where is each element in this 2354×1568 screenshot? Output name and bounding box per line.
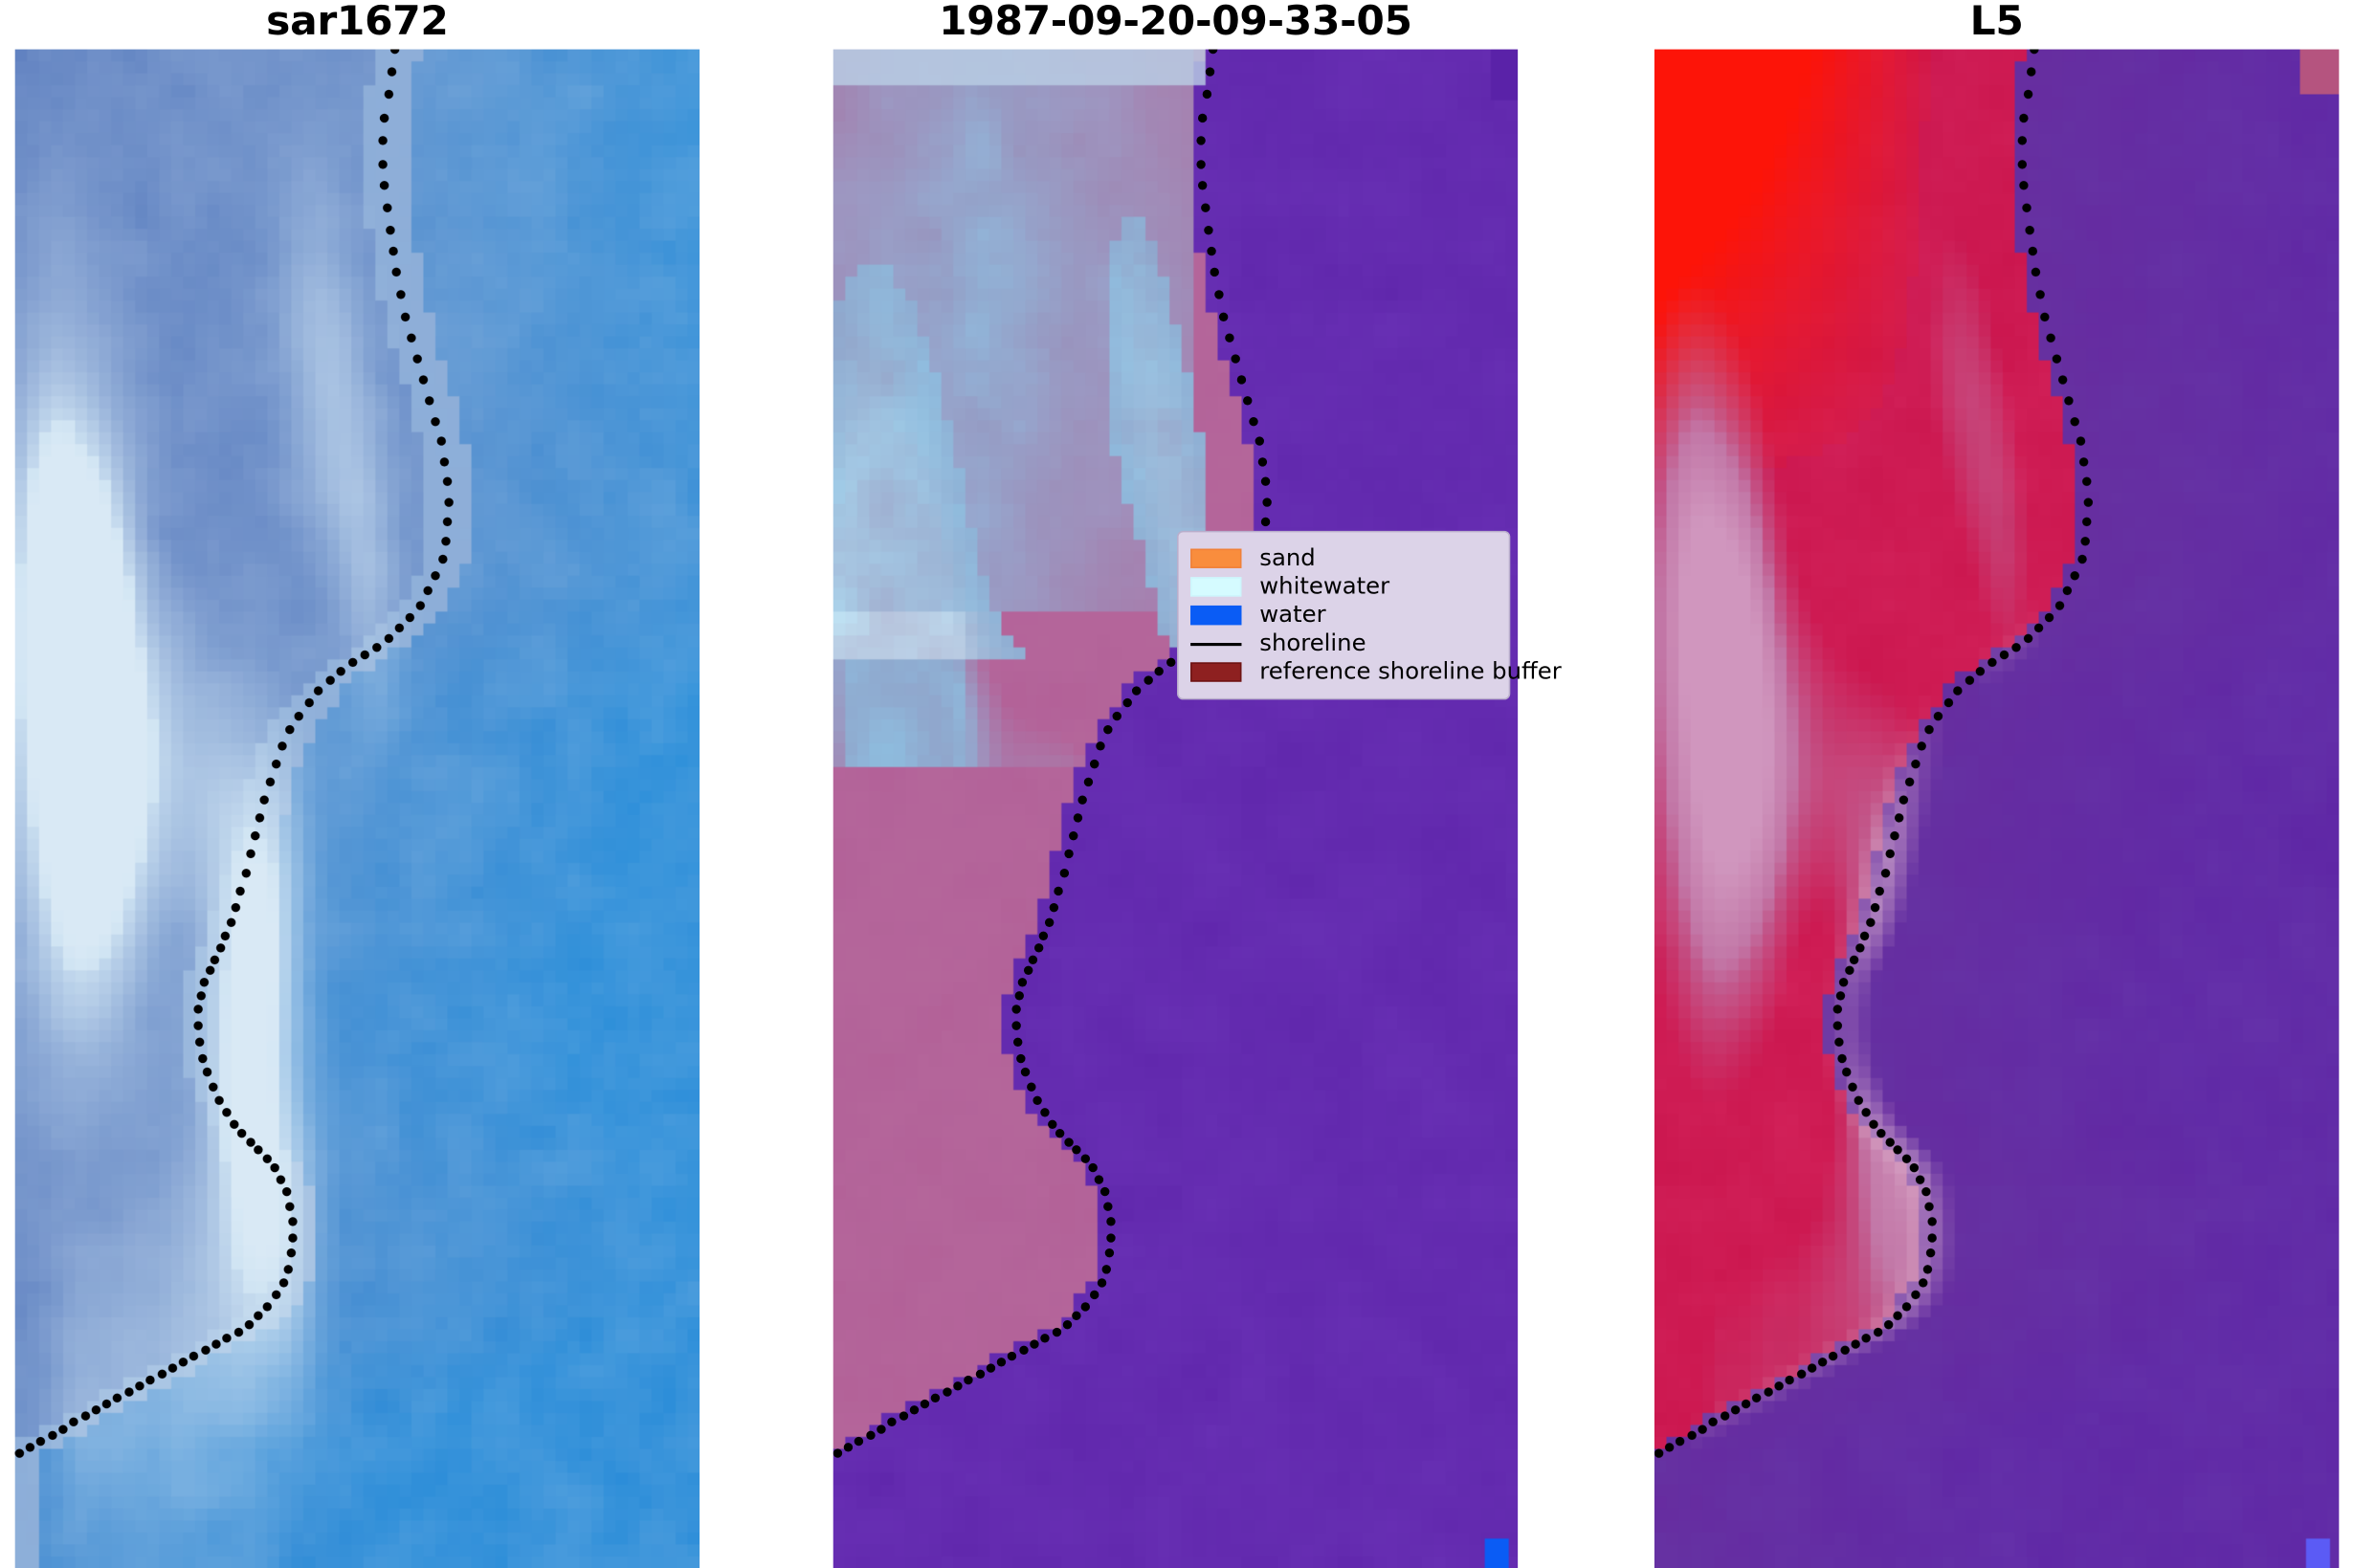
shoreline-dot [1927,1217,1936,1226]
shoreline-dot [406,334,414,342]
shoreline-dot [1742,1400,1750,1408]
shoreline-dot [1052,1327,1060,1336]
shoreline-dot [392,268,401,276]
shoreline-dot [444,518,453,526]
shoreline-dot [189,1351,198,1359]
shoreline-dot [288,1233,297,1242]
shoreline-dot [1830,1351,1838,1359]
shoreline-dot [222,1108,231,1116]
shoreline-dot [1155,667,1164,675]
shoreline-dot [2030,50,2038,55]
shoreline-dot [380,113,389,121]
shoreline-dot [1039,932,1048,940]
shoreline-dot [441,537,450,545]
legend-label-sand: sand [1259,544,1315,573]
shoreline-dot [315,686,323,695]
shoreline-dot [1106,1217,1115,1226]
shoreline-dot [1019,1345,1028,1354]
shoreline-dot [1056,1130,1065,1138]
shoreline-dot [1885,1137,1894,1146]
shoreline-dot [287,1249,296,1258]
shoreline-dot [168,1363,177,1372]
shoreline-dot [1909,1164,1918,1173]
shoreline-dot [214,1096,223,1105]
shoreline-dot [26,1443,34,1451]
shoreline-dot [124,1388,133,1397]
shoreline-dot [246,850,255,858]
legend-item-whitewater: whitewater [1190,573,1494,602]
shoreline-dot [833,1448,842,1457]
shoreline-dot [205,965,213,974]
shoreline-dot [255,1146,263,1155]
shoreline-dot [200,978,209,986]
shoreline-dot [1029,956,1037,964]
shoreline-dot [197,991,206,1000]
shoreline-dot [1918,741,1926,750]
shoreline-dot [1836,991,1845,1000]
shoreline-dot [1665,1443,1674,1451]
shoreline-dot [1255,437,1263,446]
shoreline-dot [445,497,454,506]
shoreline-dot [1922,1264,1931,1272]
shoreline-dot [2077,555,2086,563]
shoreline-dot [1090,759,1099,767]
shoreline-dot [1844,965,1853,974]
legend-item-reference-shoreline-buffer: reference shoreline buffer [1190,658,1494,687]
shoreline-dot [2023,90,2032,99]
reference-shoreline-buffer-swatch [1190,662,1241,681]
shoreline-dot [1850,956,1858,964]
shoreline-dot [1899,795,1908,804]
shoreline-dot [1752,1394,1761,1402]
shoreline-dot [272,1291,280,1299]
shoreline-dot [278,1278,287,1287]
shoreline-dot [15,1448,24,1457]
shoreline-dot [295,711,303,719]
shoreline-dot [272,759,280,767]
shoreline-dot [1854,1096,1862,1105]
shoreline-dot [1904,777,1913,785]
shoreline-dot [201,1345,210,1354]
shoreline-dot [424,586,433,595]
shoreline-dot [1064,1137,1073,1146]
shoreline-dot [1883,1320,1892,1329]
shoreline-dot [1965,675,1973,684]
shoreline-dot [1048,1119,1056,1128]
shoreline-dot [1104,725,1113,734]
shoreline-dot [1848,1082,1856,1091]
shoreline-dot [1764,1388,1772,1397]
shoreline-dot [1027,1082,1035,1091]
shoreline-dot [415,601,424,609]
shoreline-dot [877,1424,885,1433]
shoreline-dot [909,1406,918,1415]
shoreline-dot [1928,1233,1937,1242]
shoreline-dot [384,90,392,99]
shoreline-dot [1095,1175,1103,1183]
shoreline-dot [1894,1312,1902,1320]
shoreline-dot [2082,477,2091,486]
shoreline-dot [2020,182,2029,190]
whitewater-swatch [1190,577,1241,596]
shoreline-dot [255,813,263,822]
shoreline-dot [1198,182,1207,190]
shoreline-dot [2083,518,2092,526]
shoreline-dot [179,1358,188,1366]
shoreline-dot [278,741,287,750]
shoreline-dot [250,831,258,840]
panel-classified[interactable] [833,50,1518,1568]
shoreline-dot [2046,334,2054,342]
shoreline-dot [1207,247,1215,255]
shoreline-dot [1921,1187,1929,1196]
shoreline-dot [1077,795,1086,804]
shoreline-dot [2052,355,2060,364]
shoreline-dot [1040,1108,1049,1116]
shoreline-dot [390,50,399,55]
panel-title-sar: sar1672 [15,0,700,50]
shoreline-dot [1088,1164,1097,1173]
shoreline-dot [987,1363,995,1372]
shoreline-dot [211,956,219,964]
shoreline-dot [1943,698,1952,707]
shoreline-dot [2018,137,2027,145]
shoreline-dot [1083,777,1092,785]
shoreline-dot [1862,1333,1871,1341]
shoreline-dot [1676,1436,1684,1445]
shoreline-dot [255,1312,263,1320]
shoreline-dot [899,1412,907,1421]
shoreline-dot [1924,1202,1933,1210]
sand-swatch [1190,549,1241,568]
shoreline-dot [418,376,427,385]
shoreline-dot [1926,1249,1935,1258]
panel-sar[interactable] [15,50,700,1568]
shoreline-dot [386,226,394,234]
shoreline-dot [1698,1424,1706,1433]
shoreline-dot [232,902,240,911]
shoreline-dot [1808,1363,1816,1372]
shoreline-dot [1015,991,1024,1000]
shoreline-dot [2064,396,2073,405]
shoreline-dot [230,1119,238,1128]
shoreline-dot [844,1443,853,1451]
shoreline-dot [277,1175,285,1183]
shoreline-dot [285,1202,294,1210]
shoreline-dot [1833,1005,1842,1013]
shoreline-dot [396,290,405,298]
shoreline-dot [48,1430,56,1439]
panel-l5[interactable] [1654,50,2339,1568]
shoreline-dot [1774,1381,1783,1390]
shoreline-dot [208,1082,216,1091]
shoreline-dot [1055,887,1063,895]
shoreline-dot [246,1137,255,1146]
shoreline-dot [270,1164,278,1173]
shoreline-dot [157,1369,166,1378]
shoreline-dot [1073,1312,1081,1320]
shoreline-dot [1045,917,1054,926]
shoreline-dot [1064,850,1073,858]
shoreline-dot [395,624,404,632]
figure-canvas: sar1672 1987-09-20-09-33-05 L5 sand whit… [0,0,2354,1023]
shoreline-dot [259,795,268,804]
shoreline-dot [2032,268,2040,276]
shoreline-dot [1880,869,1889,877]
shoreline-dot [1988,658,1997,667]
shoreline-dot [1840,1345,1849,1354]
shoreline-dot [1901,1154,1910,1162]
shoreline-dot [1911,1291,1920,1299]
shoreline-dot [1231,355,1239,364]
shoreline-dot [265,777,274,785]
shoreline-dot [348,658,357,667]
shoreline-dot [1166,658,1175,667]
shoreline-dot [443,477,452,486]
legend-label-water: water [1259,601,1325,629]
shoreline-dot [1122,698,1131,707]
shoreline-dot [1012,1005,1021,1013]
shoreline-dot [437,555,446,563]
shoreline-dot [1030,1339,1038,1348]
shoreline-dot [361,651,369,659]
legend-item-water: water [1190,601,1494,629]
shoreline-dot [378,159,387,167]
shoreline-dot [1196,137,1205,145]
shoreline-dot [1925,725,1934,734]
shoreline-dot [372,642,381,651]
shoreline-dot [2071,571,2079,580]
shoreline-dot [1869,1119,1877,1128]
shoreline-dot [1021,1068,1030,1076]
shoreline-dot [436,437,445,446]
legend-label-shoreline: shoreline [1259,629,1366,658]
shoreline-dot [1786,1376,1794,1384]
shoreline-dot [1861,1108,1870,1116]
shoreline-dot [406,613,414,622]
shoreline-dot [223,1333,232,1341]
shoreline-dot [997,1358,1006,1366]
shoreline-dot [221,932,230,940]
shoreline-dot [1062,1320,1071,1329]
shoreline-dot [244,1320,253,1329]
shoreline-dot [203,1068,211,1076]
shoreline-dot [1198,113,1207,121]
shoreline-dot [1877,1130,1886,1138]
shoreline-dot [237,1130,246,1138]
shoreline-dot [1196,159,1205,167]
shoreline-dot [1954,686,1963,695]
shoreline-dot [921,1400,929,1408]
shoreline-dot [1133,686,1142,695]
shoreline-dot [1876,887,1884,895]
shoreline-dot [1018,978,1027,986]
shoreline-dot [2034,624,2043,632]
shoreline-dot [1034,944,1043,953]
shoreline-dot [1872,902,1880,911]
shoreline-dot [2070,416,2078,425]
shoreline-dot [80,1412,89,1421]
shoreline-dot [1050,902,1058,911]
shoreline-dot [2084,497,2093,506]
shoreline-dot [2045,613,2054,622]
shoreline-dot [1090,1291,1099,1299]
shoreline-dot [1885,850,1894,858]
legend-item-shoreline: shoreline [1190,629,1494,658]
shoreline-dot [2080,537,2089,545]
shoreline-dot [1243,396,1252,405]
shoreline-dot [389,247,397,255]
shoreline-dot [1106,1233,1115,1242]
legend-label-reference-shoreline-buffer: reference shoreline buffer [1259,658,1561,687]
shoreline-dot [287,1217,296,1226]
shoreline-dot [1261,477,1270,486]
shoreline-dot [965,1376,973,1384]
shoreline-dot [1262,518,1271,526]
shoreline-dot [194,1005,203,1013]
shoreline-dot [1105,1249,1114,1258]
shoreline-dot [236,887,245,895]
shoreline-dot [102,1400,111,1408]
shoreline-dot [1068,831,1077,840]
shoreline-dot [953,1381,962,1390]
shoreline-dot [1103,1202,1112,1210]
shoreline-dot [337,667,345,675]
shoreline-dot [1008,1351,1016,1359]
shoreline-dot [1097,1278,1105,1287]
shoreline-line-swatch [1190,642,1241,645]
shoreline-dot [1818,1358,1827,1366]
shoreline-dot [1654,1448,1663,1457]
shoreline-dot [1236,376,1245,385]
shoreline-dot [380,182,389,190]
shoreline-dot [383,204,391,212]
shoreline-dot [211,1339,220,1348]
shoreline-dot [1201,204,1210,212]
shoreline-dot [1866,917,1875,926]
shoreline-dot [401,312,410,320]
shoreline-dot [198,1053,207,1062]
shoreline-dot [2024,634,2032,643]
shoreline-dot [1934,711,1943,719]
shoreline-dot [1080,1154,1089,1162]
shoreline-dot [1202,90,1210,99]
shoreline-dot [135,1381,144,1390]
shoreline-dot [1902,1302,1911,1311]
shoreline-dot [1916,1175,1924,1183]
shoreline-dot [2027,67,2035,76]
shoreline-dot [58,1424,67,1433]
shoreline-dot [1852,1339,1860,1348]
shoreline-dot [378,137,387,145]
shoreline-dot [1081,1302,1090,1311]
shoreline-dot [432,571,440,580]
shoreline-dot [385,634,393,643]
shoreline-overlay-sar [15,50,700,1568]
shoreline-dot [262,1154,271,1162]
shoreline-dot [1855,944,1864,953]
shoreline-dot [1059,869,1068,877]
shoreline-dot [241,869,250,877]
shoreline-dot [1214,290,1223,298]
shoreline-dot [1842,1068,1851,1076]
legend: sand whitewater water shoreline referenc… [1177,531,1510,700]
shoreline-dot [286,725,295,734]
shoreline-dot [1144,675,1152,684]
panel-title-l5: L5 [1654,0,2339,50]
shoreline-dot [2025,226,2033,234]
shoreline-dot [1837,1053,1846,1062]
shoreline-dot [2018,159,2027,167]
shoreline-dot [1113,711,1121,719]
shoreline-dot [1204,226,1212,234]
shoreline-dot [1101,1264,1110,1272]
shoreline-dot [388,67,396,76]
shoreline-overlay-l5 [1654,50,2339,1568]
shoreline-dot [1709,1418,1718,1426]
shoreline-dot [2079,457,2088,466]
shoreline-dot [91,1406,100,1415]
shoreline-dot [1206,67,1214,76]
water-swatch [1190,606,1241,625]
shoreline-dot [2028,247,2036,255]
shoreline-dot [1099,1187,1108,1196]
shoreline-dot [1209,50,1217,55]
shoreline-dot [425,396,433,405]
panel-title-classified: 1987-09-20-09-33-05 [833,0,1518,50]
shoreline-dot [263,1302,272,1311]
shoreline-dot [216,944,225,953]
shoreline-dot [1731,1406,1740,1415]
shoreline-dot [1687,1430,1696,1439]
shoreline-dot [888,1418,897,1426]
shoreline-dot [1911,759,1920,767]
shoreline-dot [431,416,439,425]
shoreline-dot [1219,312,1228,320]
shoreline-dot [1894,1146,1902,1155]
shoreline-dot [1249,416,1257,425]
shoreline-dot [1263,497,1272,506]
shoreline-dot [1225,334,1233,342]
shoreline-dot [1258,457,1267,466]
shoreline-dot [2040,312,2049,320]
shoreline-dot [1890,831,1899,840]
shoreline-dot [412,355,421,364]
shoreline-dot [36,1436,45,1445]
shoreline-dot [233,1327,242,1336]
shoreline-dot [2022,204,2031,212]
shoreline-dot [227,917,235,926]
shoreline-dot [975,1369,984,1378]
shoreline-dot [1840,978,1849,986]
shoreline-dot [855,1436,863,1445]
shoreline-dot [2011,642,2020,651]
shoreline-dot [195,1037,204,1046]
shoreline-dot [2000,651,2009,659]
shoreline-dot [1976,667,1985,675]
shoreline-dot [1097,741,1105,750]
shoreline-dot [304,698,313,707]
shoreline-dot [440,457,449,466]
shoreline-dot [1041,1333,1050,1341]
shoreline-dot [146,1376,155,1384]
shoreline-dot [1894,813,1902,822]
shoreline-dot [1834,1037,1843,1046]
legend-item-sand: sand [1190,544,1494,573]
shoreline-dot [69,1418,78,1426]
shoreline-dot [1016,1053,1025,1062]
legend-label-whitewater: whitewater [1259,573,1389,602]
